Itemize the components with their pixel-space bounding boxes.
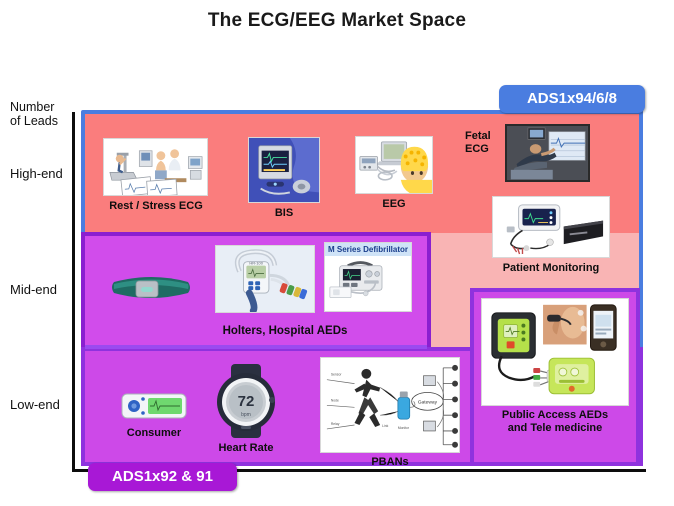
public-access-aed-photo (481, 298, 629, 406)
badge-ads1x92-91[interactable]: ADS1x92 & 91 (88, 463, 237, 491)
item-public-access-aeds: Public Access AEDs and Tele medicine (481, 298, 629, 406)
defibrillator-photo: M Series Defibrillator (324, 242, 412, 312)
item-consumer: Consumer (120, 390, 188, 422)
holter-recorder-icon: HR-100 (216, 246, 314, 313)
body-area-network-diagram-icon: Gateway Sensor Node (321, 358, 459, 453)
bis-monitor-icon (249, 138, 319, 202)
item-bis: BIS (248, 137, 320, 203)
heart-rate-watch-photo: 72 bpm (215, 364, 277, 438)
svg-text:Node: Node (331, 398, 339, 402)
heart-rate-watch-icon: 72 bpm (215, 364, 277, 438)
item-fetal-ecg: Fetal ECG (505, 124, 590, 182)
fetal-ecg-caption: Fetal ECG (465, 130, 505, 156)
axis-tier-mid: Mid-end (10, 283, 86, 297)
treadmill-stress-test-icon (104, 139, 207, 196)
holter-photo: HR-100 (215, 245, 315, 313)
item-patient-monitoring: Patient Monitoring (492, 196, 610, 258)
badge-ads1x94-6-8[interactable]: ADS1x94/6/8 (499, 85, 645, 113)
eeg-photo (355, 136, 433, 194)
public-access-aeds-caption: Public Access AEDs and Tele medicine (475, 409, 635, 435)
heart-rate-caption: Heart Rate (205, 442, 287, 455)
svg-text:Gateway: Gateway (418, 399, 438, 405)
axis-tier-low: Low-end (10, 398, 86, 412)
bis-caption: BIS (244, 207, 324, 220)
defibrillator-header-label: M Series Defibrillator (325, 243, 411, 256)
item-rest-stress-ecg: Rest / Stress ECG (103, 138, 208, 196)
rest-stress-ecg-caption: Rest / Stress ECG (98, 200, 214, 213)
chest-strap-photo (108, 268, 194, 306)
axis-tier-high: High-end (10, 167, 86, 181)
pbans-caption: PBANs (330, 456, 450, 469)
holters-aeds-caption: Holters, Hospital AEDs (190, 325, 380, 337)
patient-monitor-devices-icon (493, 197, 609, 258)
consumer-device-photo (120, 390, 188, 422)
patient-monitoring-caption: Patient Monitoring (486, 262, 616, 275)
svg-text:72: 72 (238, 393, 255, 410)
axis-y-title: Number of Leads (10, 100, 80, 128)
bis-monitor-photo (248, 137, 320, 203)
consumer-bp-monitor-icon (120, 390, 188, 422)
svg-text:HR-100: HR-100 (249, 261, 263, 266)
item-heart-rate: 72 bpm Heart Rate (215, 364, 277, 438)
public-access-aed-telemedicine-icon (482, 299, 628, 406)
svg-text:bpm: bpm (241, 412, 251, 418)
eeg-cap-icon (356, 137, 432, 194)
svg-text:Monitor: Monitor (398, 426, 410, 430)
rest-stress-ecg-photo (103, 138, 208, 196)
item-chest-belt (108, 268, 194, 306)
region-divider (85, 345, 427, 349)
svg-text:Sensor: Sensor (331, 373, 342, 377)
slide-canvas: The ECG/EEG Market Space Number of Leads… (0, 0, 674, 506)
fetal-monitoring-icon (507, 126, 588, 181)
consumer-caption: Consumer (114, 427, 194, 440)
eeg-caption: EEG (353, 198, 435, 211)
page-title: The ECG/EEG Market Space (0, 10, 674, 32)
patient-monitoring-photo (492, 196, 610, 258)
pbans-diagram-photo: Gateway Sensor Node (320, 357, 460, 453)
item-defibrillator: M Series Defibrillator (324, 242, 412, 312)
item-holter: HR-100 (215, 245, 315, 313)
item-pbans: Gateway Sensor Node (320, 357, 460, 453)
defibrillator-icon (325, 256, 397, 312)
chest-strap-icon (108, 268, 194, 306)
svg-text:Link: Link (382, 424, 388, 428)
fetal-ecg-photo (505, 124, 590, 182)
item-eeg: EEG (355, 136, 433, 194)
svg-text:Relay: Relay (331, 422, 340, 426)
